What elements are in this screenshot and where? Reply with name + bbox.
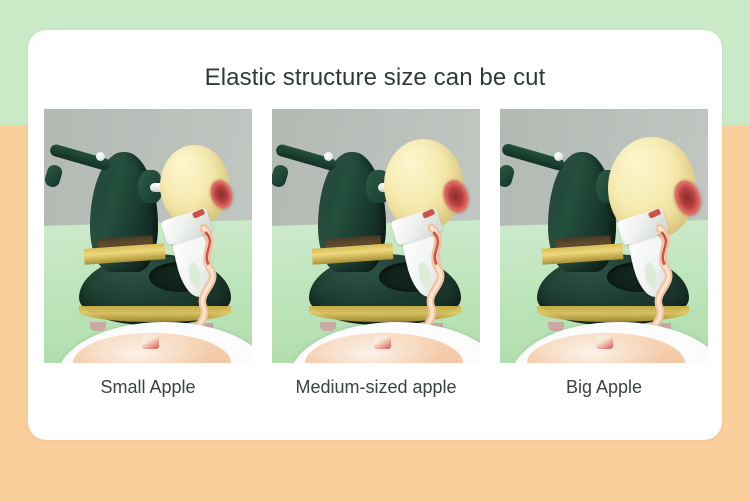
apple-skin-chunk	[374, 335, 391, 349]
product-photo-medium-apple[interactable]	[272, 109, 480, 363]
panel-medium-apple[interactable]	[272, 109, 480, 363]
caption-big-apple: Big Apple	[500, 375, 708, 399]
blade-red-marker	[648, 208, 662, 218]
peeler-foot-left	[548, 322, 564, 331]
screenshot-stage: Elastic structure size can be cut	[0, 0, 750, 502]
panel-small-apple[interactable]	[44, 109, 252, 363]
apple-skin-chunk	[596, 335, 613, 349]
image-panel-row	[44, 109, 708, 363]
caption-row: Small Apple Medium-sized apple Big Apple	[44, 375, 708, 399]
peeler-foot-left	[90, 322, 106, 331]
blade-red-marker	[422, 208, 436, 218]
panel-big-apple[interactable]	[500, 109, 708, 363]
apple-skin-chunk	[142, 335, 159, 349]
caption-small-apple: Small Apple	[44, 375, 252, 399]
caption-medium-apple: Medium-sized apple	[272, 375, 480, 399]
page-title: Elastic structure size can be cut	[28, 62, 722, 94]
content-card: Elastic structure size can be cut	[28, 30, 722, 440]
product-photo-small-apple[interactable]	[44, 109, 252, 363]
blade-red-marker	[192, 208, 206, 218]
peeler-foot-left	[320, 322, 336, 331]
product-photo-big-apple[interactable]	[500, 109, 708, 363]
